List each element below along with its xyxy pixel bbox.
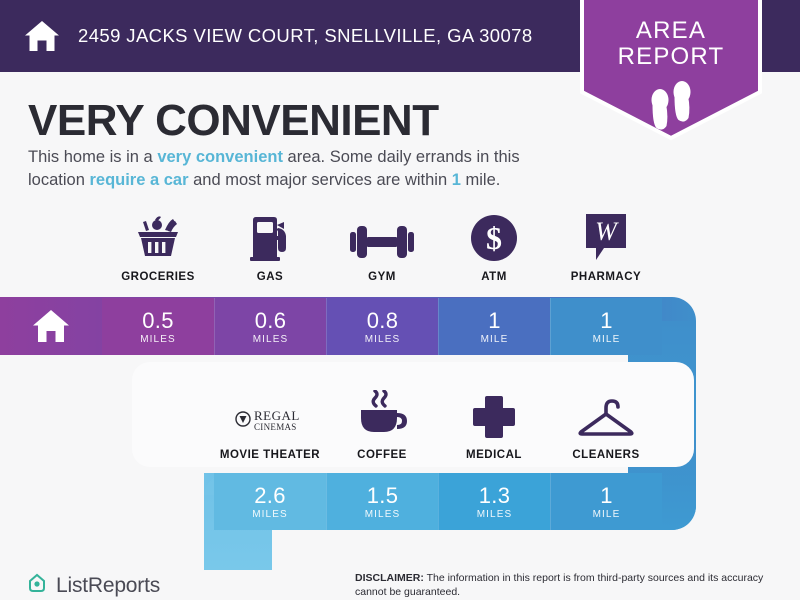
distance-cell: 1.5 MILES: [326, 473, 438, 530]
distance-unit: MILES: [253, 334, 289, 345]
walgreens-w-icon: W: [582, 212, 630, 262]
gas-pump-icon: [248, 212, 292, 262]
desc-part-4: mile.: [461, 171, 500, 189]
groceries-basket-icon: [132, 212, 184, 262]
desc-part-1: This home is in a: [28, 148, 157, 166]
amenity-movie-theater: REGAL CINEMAS MOVIE THEATER: [214, 390, 326, 461]
page-title: VERY CONVENIENT: [28, 96, 439, 146]
amenity-label: MOVIE THEATER: [220, 449, 320, 461]
distance-unit: MILES: [140, 334, 176, 345]
coffee-cup-icon: [355, 390, 409, 440]
distance-cell: 1.3 MILES: [438, 473, 550, 530]
distance-unit: MILES: [365, 509, 401, 520]
listreports-logo-text: ListReports: [56, 574, 160, 598]
amenity-gym: GYM: [326, 212, 438, 283]
clothes-hanger-icon: [576, 390, 636, 440]
home-icon: [22, 16, 62, 56]
distance-unit: MILES: [365, 334, 401, 345]
distance-cell: 1 MILE: [550, 473, 662, 530]
distance-value: 2.6: [254, 484, 285, 508]
distance-row-top: 0.5 MILES 0.6 MILES 0.8 MILES 1 MILE 1 M…: [102, 298, 662, 355]
disclaimer: DISCLAIMER: The information in this repo…: [355, 572, 785, 599]
amenity-label: GYM: [368, 271, 396, 283]
distance-cell: 0.5 MILES: [102, 298, 214, 355]
distance-value: 1: [600, 309, 613, 333]
distance-value: 0.8: [367, 309, 398, 333]
listreports-tag-icon: [26, 572, 48, 599]
area-report-badge: AREA REPORT: [576, 0, 766, 142]
amenity-label: MEDICAL: [466, 449, 522, 461]
amenity-label: CLEANERS: [572, 449, 639, 461]
amenity-medical: MEDICAL: [438, 390, 550, 461]
area-report-page: 2459 JACKS VIEW COURT, SNELLVILLE, GA 30…: [0, 0, 800, 600]
desc-highlight-2: require a car: [89, 171, 188, 189]
property-address: 2459 JACKS VIEW COURT, SNELLVILLE, GA 30…: [78, 25, 533, 47]
svg-text:CINEMAS: CINEMAS: [254, 422, 297, 432]
disclaimer-label: DISCLAIMER:: [355, 572, 424, 584]
medical-cross-icon: [471, 390, 517, 440]
amenity-label: COFFEE: [357, 449, 407, 461]
amenity-gas: GAS: [214, 212, 326, 283]
amenity-label: GAS: [257, 271, 283, 283]
amenity-label: PHARMACY: [571, 271, 641, 283]
desc-highlight-1: very convenient: [157, 148, 283, 166]
svg-text:$: $: [486, 220, 502, 256]
listreports-logo: ListReports: [26, 572, 160, 599]
distance-unit: MILE: [593, 334, 621, 345]
distance-row-bottom: 2.6 MILES 1.5 MILES 1.3 MILES 1 MILE: [214, 473, 662, 530]
regal-cinemas-icon: REGAL CINEMAS: [233, 390, 307, 440]
distance-cell: 0.6 MILES: [214, 298, 326, 355]
distance-unit: MILE: [481, 334, 509, 345]
svg-text:REGAL: REGAL: [254, 408, 300, 423]
distance-value: 1.3: [479, 484, 510, 508]
desc-highlight-3: 1: [452, 171, 461, 189]
desc-part-3: and most major services are within: [189, 171, 452, 189]
amenity-icon-row-bottom: REGAL CINEMAS MOVIE THEATER COFFEE: [214, 390, 662, 461]
distance-cell: 1 MILE: [438, 298, 550, 355]
home-icon: [30, 305, 72, 347]
distance-value: 0.5: [142, 309, 173, 333]
distance-unit: MILES: [477, 509, 513, 520]
svg-text:W: W: [595, 217, 619, 246]
dollar-circle-icon: $: [470, 212, 518, 262]
distance-value: 1.5: [367, 484, 398, 508]
amenity-coffee: COFFEE: [326, 390, 438, 461]
amenity-icon-row-top: GROCERIES GAS: [102, 212, 662, 283]
distance-unit: MILE: [593, 509, 621, 520]
dumbbell-icon: [350, 212, 414, 262]
distance-value: 0.6: [255, 309, 286, 333]
distance-unit: MILES: [252, 509, 288, 520]
description-text: This home is in a very convenient area. …: [28, 146, 573, 192]
amenity-label: GROCERIES: [121, 271, 195, 283]
distance-value: 1: [488, 309, 501, 333]
distance-cell: 2.6 MILES: [214, 473, 326, 530]
amenity-label: ATM: [481, 271, 507, 283]
distance-cell: 1 MILE: [550, 298, 662, 355]
distance-cell: 0.8 MILES: [326, 298, 438, 355]
amenity-pharmacy: W PHARMACY: [550, 212, 662, 283]
distance-value: 1: [600, 484, 613, 508]
amenity-groceries: GROCERIES: [102, 212, 214, 283]
amenity-cleaners: CLEANERS: [550, 390, 662, 461]
amenity-atm: $ ATM: [438, 212, 550, 283]
